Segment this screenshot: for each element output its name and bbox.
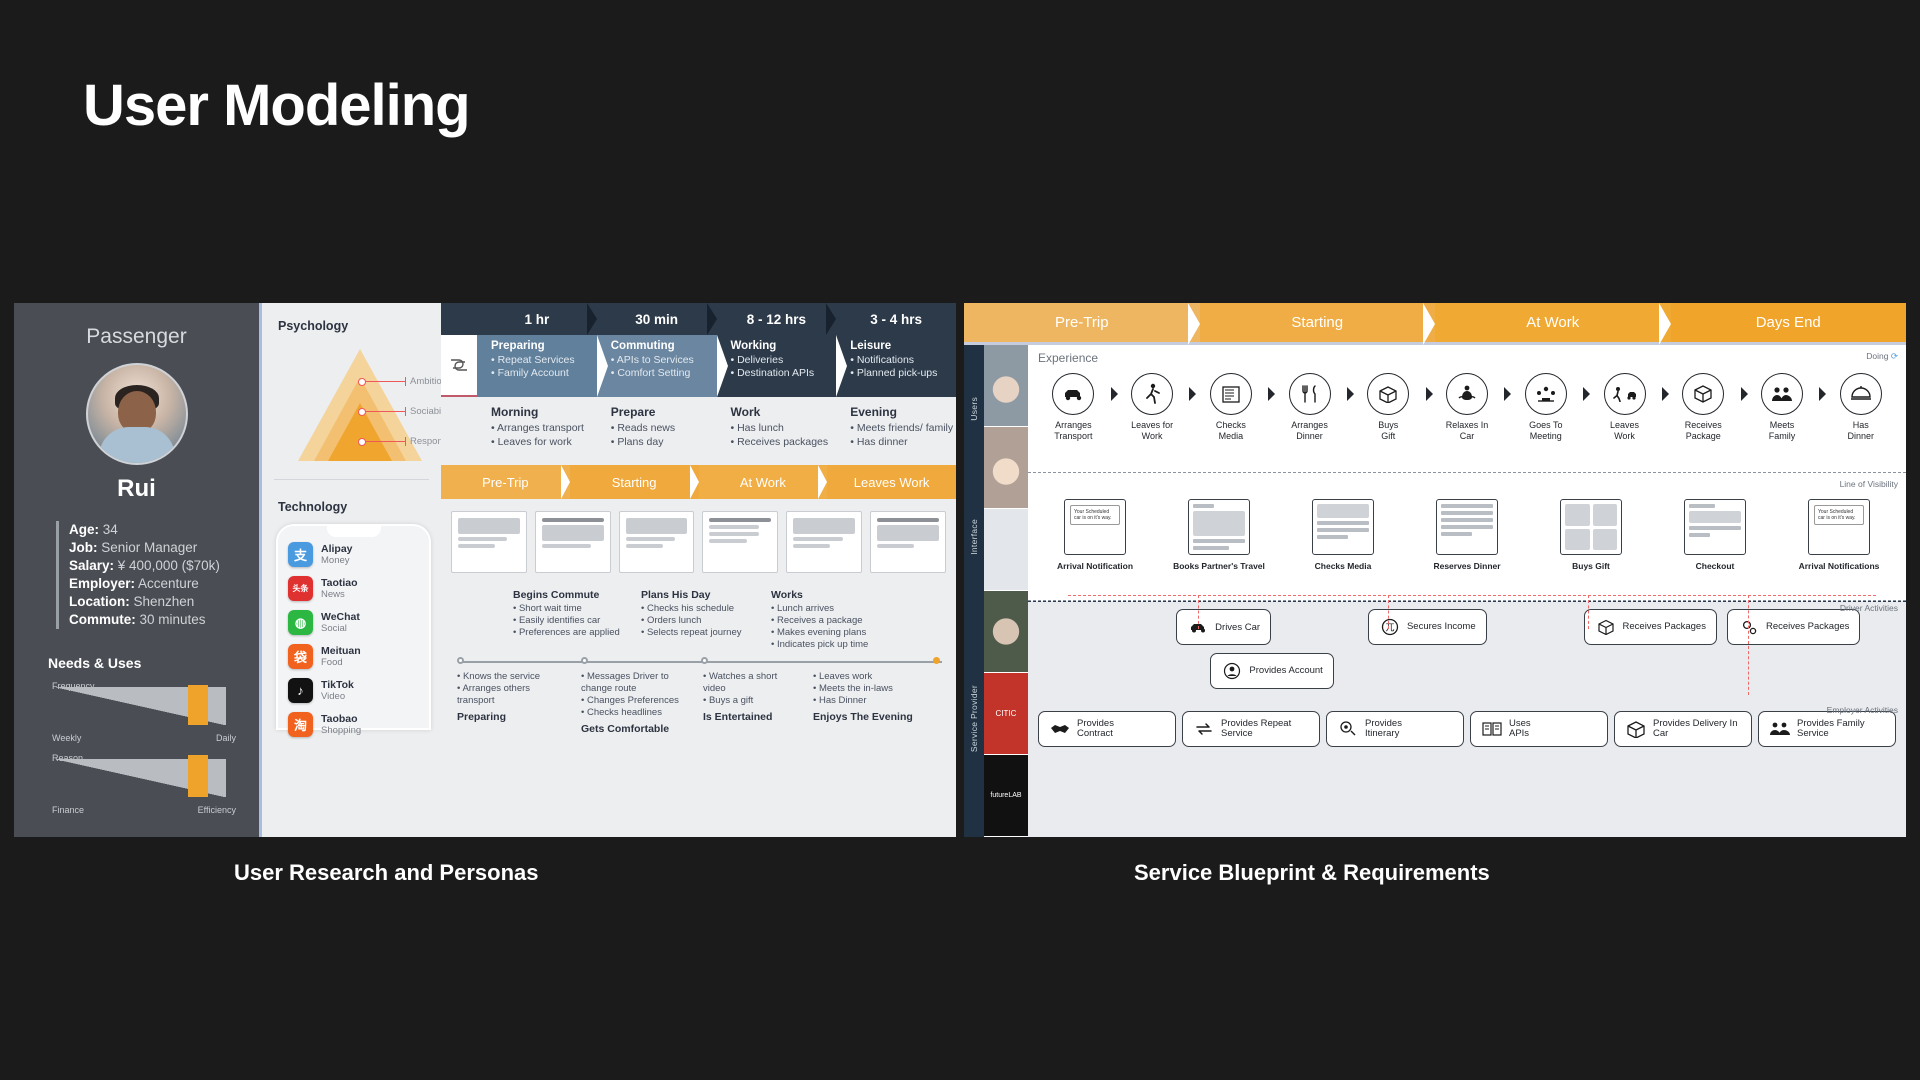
technology-app-item[interactable]: 袋MeituanFood <box>288 644 421 669</box>
storyboard-item: • Knows the service <box>457 671 549 683</box>
driver-photo <box>984 591 1028 673</box>
employer-activity[interactable]: Provides FamilyService <box>1758 711 1896 747</box>
storyboard-node-end <box>933 657 940 664</box>
page-title: User Modeling <box>83 72 470 139</box>
pyramid-pin-1 <box>362 381 406 382</box>
storyboard-title: Plans His Day <box>641 589 749 601</box>
needs-right-frequency: Daily <box>216 733 236 743</box>
journey-activity-title: Commuting <box>611 340 717 352</box>
journey-day-item: • Arranges transport <box>491 422 597 436</box>
leaving-icon <box>1604 373 1646 415</box>
psychology-pyramid: Ambition Sociability Responsibility <box>262 333 441 475</box>
interface-step-label: Checks Media <box>1315 561 1372 571</box>
technology-app-item[interactable]: 头条TaotiaoNews <box>288 576 421 601</box>
experience-step-label: MeetsFamily <box>1769 420 1796 442</box>
experience-step[interactable]: ArrangesTransport <box>1034 373 1113 442</box>
screen-list <box>1436 499 1498 555</box>
experience-step-label: HasDinner <box>1847 420 1874 442</box>
pill-label: Receives Packages <box>1766 622 1849 632</box>
rail-service-provider: Service Provider <box>964 601 984 837</box>
journey-day-title: Prepare <box>611 405 717 419</box>
app-icon: 淘 <box>288 712 313 737</box>
blueprint-photo-column: CITIC futureLAB <box>984 345 1028 837</box>
screen-article <box>1312 499 1374 555</box>
app-name: WeChat <box>321 611 360 623</box>
journey-activity-item: • Comfort Setting <box>611 367 717 380</box>
storyboard-item: • Meets the in-laws <box>813 683 918 695</box>
journey-day-title: Work <box>731 405 837 419</box>
journey-day-row: Morning • Arranges transport • Leaves fo… <box>441 397 956 465</box>
car-icon <box>1052 373 1094 415</box>
storyboard-item: • Easily identifies car <box>513 615 621 627</box>
needs-left-reason: Finance <box>52 805 84 815</box>
blueprint-rail-labels: Users Interface Service Provider <box>964 345 984 837</box>
experience-row-label: Experience <box>1038 351 1098 365</box>
storyboard-bottom-0: • Knows the service • Arranges others tr… <box>457 671 549 725</box>
photo-placeholder <box>984 509 1028 591</box>
persona-fact: Employer: Accenture <box>69 575 239 593</box>
customer-journey-map: 1 hr 30 min 8 - 12 hrs 3 - 4 hrs Prepari… <box>441 303 956 837</box>
journey-phase-pre-trip[interactable]: Pre-Trip <box>441 465 570 499</box>
dinner-icon <box>1840 373 1882 415</box>
experience-step-label: ArrangesTransport <box>1054 420 1092 442</box>
newspaper-icon <box>1210 373 1252 415</box>
support-connector <box>1588 595 1589 629</box>
storyboard-node <box>457 657 464 664</box>
journey-activity-0: Preparing • Repeat Services • Family Acc… <box>477 335 597 397</box>
storyboard-title: Gets Comfortable <box>581 723 681 735</box>
app-category: Social <box>321 623 360 634</box>
pyramid-pin-3 <box>362 441 406 442</box>
experience-step[interactable]: BuysGift <box>1349 373 1428 442</box>
experience-step[interactable]: MeetsFamily <box>1743 373 1822 442</box>
interface-step-label: Reserves Dinner <box>1433 561 1500 571</box>
screen-notification: Your Scheduled car is on it's way. <box>1064 499 1126 555</box>
app-category: News <box>321 589 358 600</box>
app-name: TikTok <box>321 679 354 691</box>
journey-activity-item: • Notifications <box>850 354 956 367</box>
experience-step[interactable]: Goes ToMeeting <box>1506 373 1585 442</box>
chevron-icon <box>597 335 608 397</box>
avatar-wrap <box>34 363 239 465</box>
pyramid-pin-2 <box>362 411 406 412</box>
refresh-icon: ⟳ <box>1891 351 1898 361</box>
app-name: Taotiao <box>321 577 358 589</box>
persona-name: Rui <box>34 475 239 503</box>
journey-day-1: Prepare • Reads news • Plans day <box>597 405 717 465</box>
chevron-icon <box>836 335 847 397</box>
pill-label: Provides RepeatService <box>1221 719 1291 739</box>
rail-users: Users <box>964 345 984 473</box>
blueprint-phase-pre-trip[interactable]: Pre-Trip <box>964 303 1200 342</box>
pill-label: ProvidesItinerary <box>1365 719 1402 739</box>
storyboard-bottom-3: • Leaves work • Meets the in-laws • Has … <box>813 671 918 725</box>
persona-fact: Commute: 30 minutes <box>69 611 239 629</box>
experience-step[interactable]: ArrangesDinner <box>1270 373 1349 442</box>
experience-step[interactable]: Leaves forWork <box>1113 373 1192 442</box>
user-circle-icon <box>1221 661 1243 681</box>
yuan-coin-icon: 兀 <box>1379 617 1401 637</box>
experience-step[interactable]: ReceivesPackage <box>1664 373 1743 442</box>
app-category: Money <box>321 555 353 566</box>
app-icon: 袋 <box>288 644 313 669</box>
technology-app-item[interactable]: ♪TikTokVideo <box>288 678 421 703</box>
interface-step-label: Arrival Notification <box>1057 561 1133 571</box>
employer-activity[interactable]: UsesAPIs <box>1470 711 1608 747</box>
experience-step-label: Relaxes InCar <box>1446 420 1489 442</box>
journey-day-2: Work • Has lunch • Receives packages <box>717 405 837 465</box>
interface-step[interactable]: Buys Gift <box>1532 499 1650 571</box>
journey-day-0: Morning • Arranges transport • Leaves fo… <box>477 405 597 465</box>
journey-day-item: • Reads news <box>611 422 717 436</box>
psychology-title: Psychology <box>262 303 441 333</box>
storyboard-item: • Has Dinner <box>813 695 918 707</box>
pill-label: ProvidesContract <box>1077 719 1114 739</box>
blueprint-service-provider-row: Driver Activities Drives Car 兀 <box>1028 601 1906 837</box>
journey-activity-title: Preparing <box>491 340 597 352</box>
user-photo-male <box>984 345 1028 427</box>
app-icon: ♪ <box>288 678 313 703</box>
driver-activities-label: Driver Activities <box>1840 603 1898 613</box>
journey-activity-item: • Planned pick-ups <box>850 367 956 380</box>
experience-row-right-label: Doing ⟳ <box>1866 351 1898 362</box>
employer-activity[interactable]: ProvidesContract <box>1038 711 1176 747</box>
journey-duration-3: 3 - 4 hrs <box>836 303 956 335</box>
experience-step-label: LeavesWork <box>1610 420 1639 442</box>
citic-logo: CITIC <box>984 673 1028 755</box>
brand-mark-icon <box>448 354 470 376</box>
storyboard-item: • Watches a short video <box>703 671 795 695</box>
storyboard-item: • Buys a gift <box>703 695 795 707</box>
service-blueprint-board: Pre-Trip Starting At Work Days End Users… <box>964 303 1906 837</box>
app-icon: 头条 <box>288 576 313 601</box>
journey-day-item: • Has lunch <box>731 422 837 436</box>
journey-activity-title: Working <box>731 340 837 352</box>
journey-badge-spacer <box>441 303 477 335</box>
journey-day-item: • Meets friends/ family <box>850 422 956 436</box>
storyboard-item: • Messages Driver to change route <box>581 671 681 695</box>
needs-marker-reason <box>188 755 208 797</box>
line-of-visibility-label: Line of Visibility <box>1840 479 1898 489</box>
avatar <box>86 363 188 465</box>
pill-label: Provides FamilyService <box>1797 719 1865 739</box>
employer-activity[interactable]: Provides Delivery InCar <box>1614 711 1752 747</box>
driver-activity-drives-car[interactable]: Drives Car <box>1176 609 1271 645</box>
storyboard-title: Preparing <box>457 711 549 723</box>
journey-duration-0: 1 hr <box>477 303 597 335</box>
interface-step[interactable]: Your Scheduled car is on it's way.Arriva… <box>1780 499 1898 571</box>
experience-step-label: Leaves forWork <box>1131 420 1173 442</box>
storyboard-top-2: Works • Lunch arrives • Receives a packa… <box>771 589 879 651</box>
pill-label: UsesAPIs <box>1509 719 1531 739</box>
pill-label: Receives Packages <box>1623 622 1706 632</box>
experience-step-label: BuysGift <box>1378 420 1398 442</box>
driver-lane-bottom: Provides Account <box>1028 645 1906 689</box>
employer-activity[interactable]: Provides RepeatService <box>1182 711 1320 747</box>
storyboard-item: • Preferences are applied <box>513 627 621 639</box>
support-connector <box>1068 595 1876 596</box>
app-name: Taobao <box>321 713 361 725</box>
journey-activity-2: Working • Deliveries • Destination APIs <box>717 335 837 397</box>
interface-step[interactable]: Checks Media <box>1284 499 1402 571</box>
journey-wireframe-row <box>441 499 956 585</box>
storyboard-title: Is Entertained <box>703 711 795 723</box>
blueprint-phase-days-end[interactable]: Days End <box>1671 303 1907 342</box>
journey-duration-row: 1 hr 30 min 8 - 12 hrs 3 - 4 hrs <box>441 303 956 335</box>
journey-day-title: Evening <box>850 405 956 419</box>
storyboard-item: • Leaves work <box>813 671 918 683</box>
storyboard-item: • Makes evening plans <box>771 627 879 639</box>
storyboard-item: • Selects repeat journey <box>641 627 749 639</box>
package-icon <box>1682 373 1724 415</box>
interface-step-label: Checkout <box>1696 561 1735 571</box>
pill-label: Provides Delivery InCar <box>1653 719 1737 739</box>
interface-step[interactable]: Reserves Dinner <box>1408 499 1526 571</box>
wireframe-thumb[interactable] <box>535 511 611 573</box>
driver-activity-receives-packages-2[interactable]: Receives Packages <box>1727 609 1860 645</box>
journey-phase-row: Pre-Trip Starting At Work Leaves Work <box>441 465 956 499</box>
journey-day-spacer <box>441 405 477 465</box>
needs-right-reason: Efficiency <box>198 805 236 815</box>
journey-activity-item: • APIs to Services <box>611 354 717 367</box>
experience-step[interactable]: ChecksMedia <box>1191 373 1270 442</box>
storyboard-item: • Changes Preferences <box>581 695 681 707</box>
employer-lane: ProvidesContractProvides RepeatServicePr… <box>1028 689 1906 747</box>
brand-logo <box>441 335 477 397</box>
journey-activity-item: • Destination APIs <box>731 367 837 380</box>
blueprint-body: Users Interface Service Provider CITIC f… <box>964 345 1906 837</box>
experience-step-label: ReceivesPackage <box>1685 420 1722 442</box>
app-name: Meituan <box>321 645 361 657</box>
persona-role: Passenger <box>34 325 239 349</box>
technology-app-item[interactable]: 淘TaobaoShopping <box>288 712 421 737</box>
journey-phase-starting[interactable]: Starting <box>570 465 699 499</box>
pill-label: Drives Car <box>1215 622 1260 633</box>
storyboard-title: Works <box>771 589 879 601</box>
wireframe-thumb[interactable] <box>870 511 946 573</box>
persona-fact: Job: Senior Manager <box>69 539 239 557</box>
persona-fact: Location: Shenzhen <box>69 593 239 611</box>
persona-facts: Age: 34Job: Senior ManagerSalary: ¥ 400,… <box>56 521 239 629</box>
caption-right: Service Blueprint & Requirements <box>1134 860 1490 886</box>
storyboard-bottom-1: • Messages Driver to change route • Chan… <box>581 671 681 737</box>
driver-activity-provides-account[interactable]: Provides Account <box>1210 653 1333 689</box>
storyboard-item: • Checks headlines <box>581 707 681 719</box>
interface-step[interactable]: Books Partner's Travel <box>1160 499 1278 571</box>
svg-text:兀: 兀 <box>1385 623 1394 633</box>
journey-day-item: • Plans day <box>611 436 717 450</box>
storyboard-title: Begins Commute <box>513 589 621 601</box>
journey-activity-1: Commuting • APIs to Services • Comfort S… <box>597 335 717 397</box>
storyboard-bottom-2: • Watches a short video • Buys a gift Is… <box>703 671 795 725</box>
storyboard-title: Enjoys The Evening <box>813 711 918 723</box>
experience-track: ArrangesTransportLeaves forWorkChecksMed… <box>1028 345 1906 442</box>
blueprint-main: Experience Doing ⟳ ArrangesTransportLeav… <box>1028 345 1906 837</box>
location-pin-icon <box>1337 719 1359 739</box>
experience-step[interactable]: LeavesWork <box>1585 373 1664 442</box>
rail-interface: Interface <box>964 473 984 601</box>
handshake-icon <box>1049 719 1071 739</box>
technology-app-item[interactable]: ◍WeChatSocial <box>288 610 421 635</box>
screen-checkout <box>1684 499 1746 555</box>
app-category: Food <box>321 657 361 668</box>
journey-day-item: • Receives packages <box>731 436 837 450</box>
blueprint-phase-starting[interactable]: Starting <box>1200 303 1436 342</box>
experience-step-label: ChecksMedia <box>1216 420 1246 442</box>
journey-storyboard: Begins Commute • Short wait time • Easil… <box>441 585 956 745</box>
technology-app-list: 支AlipayMoney头条TaotiaoNews◍WeChatSocial袋M… <box>288 542 421 737</box>
screen-form <box>1188 499 1250 555</box>
journey-activity-item: • Deliveries <box>731 354 837 367</box>
journey-day-item: • Leaves for work <box>491 436 597 450</box>
panel-divider <box>274 479 429 480</box>
journey-activity-title: Leisure <box>850 340 956 352</box>
journey-day-title: Morning <box>491 405 597 419</box>
experience-step-label: Goes ToMeeting <box>1529 420 1562 442</box>
storyboard-item: • Receives a package <box>771 615 879 627</box>
persona-card: Passenger Rui Age: 34Job: Senior Manager… <box>14 303 259 837</box>
needs-chart-reason: Reason Finance Efficiency <box>48 749 240 815</box>
pill-label: Provides Account <box>1249 666 1322 676</box>
interface-step-label: Buys Gift <box>1572 561 1610 571</box>
avatar-body <box>99 427 175 465</box>
journey-activity-item: • Repeat Services <box>491 354 597 367</box>
storyboard-top-0: Begins Commute • Short wait time • Easil… <box>513 589 621 639</box>
user-photo-female <box>984 427 1028 509</box>
needs-chart-frequency: Frequency Weekly Daily <box>48 677 240 743</box>
storyboard-item: • Short wait time <box>513 603 621 615</box>
needs-marker-frequency <box>188 685 208 725</box>
storyboard-item: • Arranges others transport <box>457 683 549 707</box>
app-name: Alipay <box>321 543 353 555</box>
package-icon <box>1595 617 1617 637</box>
interface-step-label: Arrival Notifications <box>1799 561 1880 571</box>
technology-app-item[interactable]: 支AlipayMoney <box>288 542 421 567</box>
phone-mockup: 支AlipayMoney头条TaotiaoNews◍WeChatSocial袋M… <box>276 524 431 730</box>
wireframe-thumb[interactable] <box>786 511 862 573</box>
support-connector <box>1388 595 1389 629</box>
delivery-box-icon <box>1625 719 1647 739</box>
journey-duration-2: 8 - 12 hrs <box>717 303 837 335</box>
wireframe-thumb[interactable] <box>702 511 778 573</box>
journey-day-3: Evening • Meets friends/ family • Has di… <box>836 405 956 465</box>
app-category: Video <box>321 691 354 702</box>
driver-lane-top: Drives Car 兀 Secures Income R <box>1028 601 1906 645</box>
meeting-icon <box>1525 373 1567 415</box>
employer-activities-label: Employer Activities <box>1827 705 1898 715</box>
psychology-technology-panel: Psychology Ambition Sociability Responsi… <box>259 303 441 837</box>
storyboard-item: • Orders lunch <box>641 615 749 627</box>
meditation-icon <box>1446 373 1488 415</box>
blueprint-interface-row: Line of Visibility Your Scheduled car is… <box>1028 473 1906 601</box>
technology-title: Technology <box>262 484 441 514</box>
journey-duration-1: 30 min <box>597 303 717 335</box>
blueprint-phase-at-work[interactable]: At Work <box>1435 303 1671 342</box>
api-icon <box>1481 719 1503 739</box>
walking-icon <box>1131 373 1173 415</box>
interface-step-label: Books Partner's Travel <box>1173 561 1265 571</box>
wireframe-thumb[interactable] <box>619 511 695 573</box>
journey-phase-leaves-work[interactable]: Leaves Work <box>827 465 956 499</box>
journey-phase-at-work[interactable]: At Work <box>699 465 828 499</box>
phone-notch <box>327 526 381 537</box>
experience-step[interactable]: Relaxes InCar <box>1428 373 1507 442</box>
support-connector <box>1198 595 1199 629</box>
gift-box-icon <box>1367 373 1409 415</box>
storyboard-item: • Lunch arrives <box>771 603 879 615</box>
persona-fact: Age: 34 <box>69 521 239 539</box>
repeat-icon <box>1193 719 1215 739</box>
storyboard-node <box>581 657 588 664</box>
caption-left: User Research and Personas <box>234 860 539 886</box>
journey-activity-item: • Family Account <box>491 367 597 380</box>
app-icon: 支 <box>288 542 313 567</box>
family-icon <box>1761 373 1803 415</box>
needs-left-frequency: Weekly <box>52 733 81 743</box>
storyboard-item: • Indicates pick up time <box>771 639 879 651</box>
blueprint-phase-row: Pre-Trip Starting At Work Days End <box>964 303 1906 345</box>
app-icon: ◍ <box>288 610 313 635</box>
support-connector <box>1748 595 1749 695</box>
journey-activity-row: Preparing • Repeat Services • Family Acc… <box>441 335 956 397</box>
screen-grid <box>1560 499 1622 555</box>
cutlery-icon <box>1289 373 1331 415</box>
storyboard-node <box>701 657 708 664</box>
family-icon <box>1769 719 1791 739</box>
driver-activity-receives-packages-1[interactable]: Receives Packages <box>1584 609 1717 645</box>
experience-step[interactable]: HasDinner <box>1821 373 1900 442</box>
wireframe-thumb[interactable] <box>451 511 527 573</box>
blueprint-experience-row: Experience Doing ⟳ ArrangesTransportLeav… <box>1028 345 1906 473</box>
storyboard-item: • Checks his schedule <box>641 603 749 615</box>
interface-track: Your Scheduled car is on it's way.Arriva… <box>1028 473 1906 571</box>
screen-notification: Your Scheduled car is on it's way. <box>1808 499 1870 555</box>
chevron-icon <box>717 335 728 397</box>
user-research-board: Passenger Rui Age: 34Job: Senior Manager… <box>14 303 956 837</box>
journey-day-item: • Has dinner <box>850 436 956 450</box>
pill-label: Secures Income <box>1407 622 1476 632</box>
experience-step-label: ArrangesDinner <box>1291 420 1328 442</box>
storyboard-top-1: Plans His Day • Checks his schedule • Or… <box>641 589 749 639</box>
interface-step[interactable]: Checkout <box>1656 499 1774 571</box>
driver-activity-secures-income[interactable]: 兀 Secures Income <box>1368 609 1487 645</box>
persona-fact: Salary: ¥ 400,000 ($70k) <box>69 557 239 575</box>
journey-activity-3: Leisure • Notifications • Planned pick-u… <box>836 335 956 397</box>
employer-activity[interactable]: ProvidesItinerary <box>1326 711 1464 747</box>
futurelab-logo: futureLAB <box>984 755 1028 837</box>
needs-and-uses-title: Needs & Uses <box>48 655 239 671</box>
app-category: Shopping <box>321 725 361 736</box>
interface-step[interactable]: Your Scheduled car is on it's way.Arriva… <box>1036 499 1154 571</box>
